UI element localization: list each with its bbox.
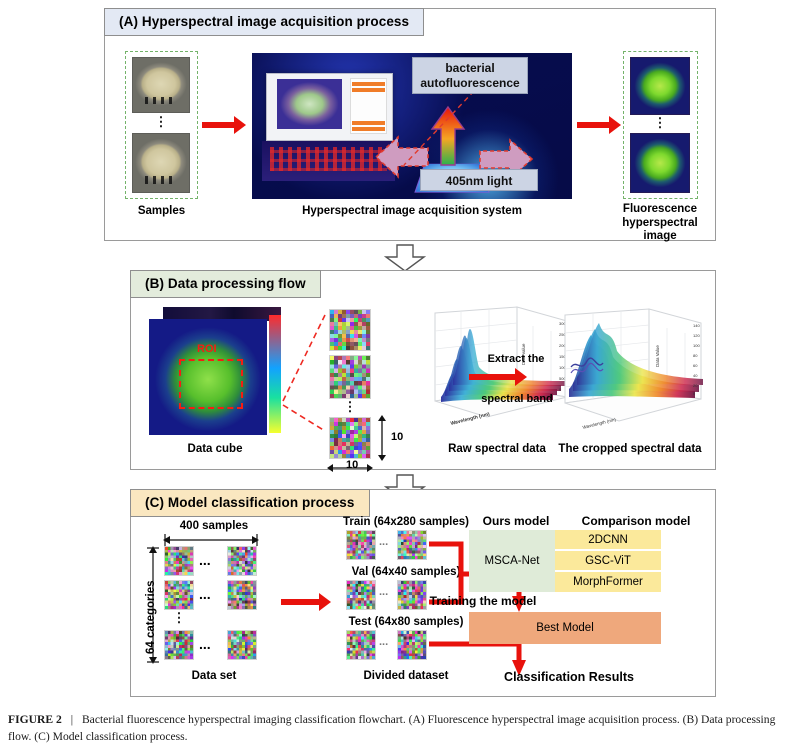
fluorescence-vertical-ellipsis: ⋮: [630, 115, 690, 131]
panel-b-processing: (B) Data processing flow ROI Data cube ⋮…: [130, 270, 716, 470]
classification-results-label: Classification Results: [479, 670, 659, 685]
spectral-patch-1: [329, 309, 371, 351]
callout-line-1: bacterial: [445, 61, 494, 75]
val-patch-1: [346, 580, 376, 610]
bacterial-autofluorescence-callout: bacterial autofluorescence: [412, 57, 528, 94]
ours-model-header: Ours model: [461, 514, 571, 528]
comparison-model-morphformer[interactable]: MorphFormer: [555, 572, 661, 592]
svg-text:100: 100: [693, 343, 700, 348]
cropped-z-axis-label: Data Value: [655, 345, 660, 367]
test-patch-2: [397, 630, 427, 660]
cropped-spectral-plot: Wavelength (nm) 140120100 806040 200 Dat…: [549, 305, 709, 439]
ours-model-box[interactable]: MSCA-Net: [469, 530, 555, 592]
dataset-ellipsis-r3: ...: [199, 636, 211, 652]
svg-text:120: 120: [693, 333, 700, 338]
cropped-x-axis-label: Wavelength (nm): [582, 417, 617, 430]
comparison-model-header: Comparison model: [571, 514, 701, 528]
patch-vertical-ellipsis: ⋮: [329, 399, 371, 415]
best-model-label: Best Model: [536, 622, 594, 634]
dataset-patch-r2c1: [164, 580, 194, 610]
laptop-screen-hyperspectral-preview: [277, 79, 342, 129]
system-label: Hyperspectral image acquisition system: [252, 205, 572, 219]
figure-number: FIGURE 2: [8, 713, 62, 726]
svg-text:140: 140: [693, 323, 700, 328]
panel-a-acquisition: (A) Hyperspectral image acquisition proc…: [104, 8, 716, 241]
dataset-patch-r2c2: [227, 580, 257, 610]
sample-petri-dish-top: [132, 57, 190, 113]
sample-petri-dish-bottom: [132, 133, 190, 193]
dataset-patch-r1c2: [227, 546, 257, 576]
training-the-model-label: Training the model: [423, 594, 543, 608]
figure-caption: FIGURE 2 | Bacterial fluorescence hypers…: [8, 712, 786, 746]
dataset-patch-r3c2: [227, 630, 257, 660]
svg-text:60: 60: [693, 363, 698, 368]
test-ellipsis: ...: [379, 636, 388, 648]
output-label-line-1: Fluorescence: [623, 203, 697, 215]
samples-label: Samples: [125, 205, 198, 219]
test-patch-1: [346, 630, 376, 660]
dataset-patch-r3c1: [164, 630, 194, 660]
comparison-model-gsc-vit-label: GSC-ViT: [585, 555, 631, 567]
spectral-patch-2: [329, 355, 371, 399]
roi-label: ROI: [197, 343, 217, 355]
data-cube-label: Data cube: [149, 443, 281, 457]
cropped-spectral-surface: Wavelength (nm) 140120100 806040 200 Dat…: [549, 305, 709, 439]
comparison-model-2dcnn-label: 2DCNN: [588, 534, 628, 546]
patch-height-value: 10: [391, 431, 403, 443]
panel-a-tab: (A) Hyperspectral image acquisition proc…: [104, 8, 424, 36]
train-ellipsis: ...: [379, 536, 388, 548]
categories-label: 64 categories: [145, 580, 157, 654]
svg-text:40: 40: [693, 373, 698, 378]
fluorescence-image-top: [630, 57, 690, 115]
caption-text: Bacterial fluorescence hyperspectral ima…: [8, 713, 775, 743]
cropped-spectral-label: The cropped spectral data: [535, 443, 725, 457]
comparison-model-gsc-vit[interactable]: GSC-ViT: [555, 551, 661, 571]
dataset-ellipsis-r2: ...: [199, 586, 211, 602]
samples-count-label: 400 samples: [149, 520, 279, 534]
output-label-line-2: hyperspectral image: [622, 217, 697, 243]
dataset-vertical-ellipsis: ⋮: [164, 610, 194, 626]
val-ellipsis: ...: [379, 586, 388, 598]
panel-c-classification: (C) Model classification process 400 sam…: [130, 489, 716, 697]
roi-to-patch-connectors: [221, 309, 331, 439]
light-source-text: 405nm light: [446, 174, 513, 188]
comparison-model-morphformer-label: MorphFormer: [573, 576, 643, 588]
callout-line-2: autofluorescence: [420, 76, 519, 90]
svg-text:80: 80: [693, 353, 698, 358]
comparison-model-2dcnn[interactable]: 2DCNN: [555, 530, 661, 550]
laptop-software-panel: [350, 78, 387, 134]
light-source-callout: 405nm light: [420, 169, 538, 191]
flow-arrow-a-to-b-icon: [384, 244, 426, 272]
caption-separator: |: [65, 713, 79, 726]
raw-x-axis-label: Wavelength (nm): [450, 411, 491, 427]
panel-c-tab: (C) Model classification process: [130, 489, 370, 517]
data-set-label: Data set: [149, 670, 279, 684]
samples-vertical-ellipsis: ⋮: [132, 114, 190, 130]
train-patch-1: [346, 530, 376, 560]
spectral-patch-n: [329, 417, 371, 459]
dataset-patch-r1c1: [164, 546, 194, 576]
samples-width-dimension: [163, 534, 259, 546]
best-model-box[interactable]: Best Model: [469, 612, 661, 644]
svg-text:20: 20: [693, 383, 698, 388]
dashed-sight-line: [398, 89, 478, 169]
patch-height-dimension: [375, 415, 389, 461]
train-patch-2: [397, 530, 427, 560]
panel-b-tab: (B) Data processing flow: [130, 270, 321, 298]
patch-width-value: 10: [346, 459, 358, 471]
ours-model-name: MSCA-Net: [485, 555, 540, 567]
dataset-ellipsis-r1: ...: [199, 552, 211, 568]
fluorescence-image-bottom: [630, 133, 690, 193]
fluorescence-output-label: Fluorescence hyperspectral image: [610, 203, 710, 244]
acquisition-system-photo: bacterial autofluorescence 405nm light: [252, 53, 572, 199]
